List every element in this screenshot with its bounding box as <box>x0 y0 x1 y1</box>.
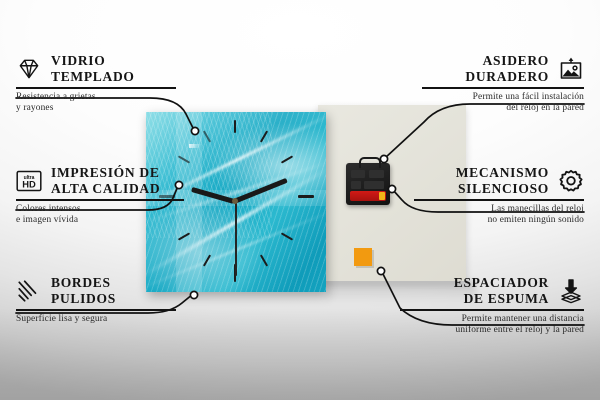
hour-tick-3 <box>298 195 314 198</box>
callout-title-line2: DURADERO <box>465 69 549 85</box>
gear-icon <box>558 168 584 194</box>
callout-header: ultra HD IMPRESIÓN DE ALTA CALIDAD <box>16 165 184 196</box>
callout-desc-line1: Las manecillas del reloj <box>414 204 584 215</box>
callout-desc-line1: Permite una fácil instalación <box>422 92 584 103</box>
callout-title-line1: IMPRESIÓN DE <box>51 165 160 181</box>
callout-desc-line1: Superficie lisa y segura <box>16 314 176 325</box>
infographic-canvas: VIDRIO TEMPLADO Resistencia a grietas y … <box>0 0 600 400</box>
callout-title-line2: DE ESPUMA <box>454 291 549 307</box>
callout-desc-line1: Colores intensos <box>16 204 184 215</box>
callout-title-line2: ALTA CALIDAD <box>51 181 160 197</box>
diamond-icon <box>16 56 42 82</box>
callout-desc-line2: del reloj en la pared <box>422 103 584 114</box>
callout-title-line1: BORDES <box>51 275 116 291</box>
polished-edges-icon <box>16 278 42 304</box>
svg-text:HD: HD <box>22 178 36 189</box>
callout-title-line1: ASIDERO <box>465 53 549 69</box>
clock-center-pin <box>232 198 238 204</box>
clock-mechanism <box>346 163 390 205</box>
mechanism-detail <box>351 170 365 178</box>
callout-title-line2: PULIDOS <box>51 291 116 307</box>
callout-desc-line2: y rayones <box>16 103 176 114</box>
callout-divider <box>16 199 184 201</box>
callout-divider <box>400 309 584 311</box>
hanging-frame-icon <box>558 56 584 82</box>
callout-divider <box>422 87 584 89</box>
callout-header: ASIDERO DURADERO <box>422 53 584 84</box>
callout-desc-line1: Resistencia a grietas <box>16 92 176 103</box>
callout-desc-line2: uniforme entre el reloj y la pared <box>400 325 584 336</box>
callout-title-line2: TEMPLADO <box>51 69 135 85</box>
mechanism-hanger-hook <box>359 157 381 168</box>
callout-desc-line1: Permite mantener una distancia <box>400 314 584 325</box>
callout-espaciador-de-espuma[interactable]: ESPACIADOR DE ESPUMA Permite mantener un… <box>400 275 584 336</box>
callout-asidero-duradero[interactable]: ASIDERO DURADERO Permite una fácil insta… <box>422 53 584 114</box>
mechanism-detail <box>351 181 361 189</box>
foam-spacer-icon <box>558 278 584 304</box>
callout-divider <box>16 309 176 311</box>
mechanism-battery <box>350 191 386 201</box>
mechanism-detail <box>369 170 384 178</box>
callout-header: MECANISMO SILENCIOSO <box>414 165 584 196</box>
ultra-hd-icon: ultra HD <box>16 168 42 194</box>
callout-desc-line2: no emiten ningún sonido <box>414 215 584 226</box>
callout-mecanismo-silencioso[interactable]: MECANISMO SILENCIOSO Las manecillas del … <box>414 165 584 226</box>
hour-tick-12 <box>234 120 236 133</box>
callout-divider <box>16 87 176 89</box>
callout-header: BORDES PULIDOS <box>16 275 176 306</box>
callout-title-line1: MECANISMO <box>456 165 549 181</box>
mechanism-detail <box>364 181 384 189</box>
callout-impresion-alta-calidad[interactable]: ultra HD IMPRESIÓN DE ALTA CALIDAD Color… <box>16 165 184 226</box>
callout-header: VIDRIO TEMPLADO <box>16 53 176 84</box>
callout-title-line1: VIDRIO <box>51 53 135 69</box>
second-hand <box>235 200 237 276</box>
callout-title-line2: SILENCIOSO <box>456 181 549 197</box>
callout-divider <box>414 199 584 201</box>
callout-header: ESPACIADOR DE ESPUMA <box>400 275 584 306</box>
foam-spacer-piece <box>354 248 372 266</box>
callout-title-line1: ESPACIADOR <box>454 275 549 291</box>
callout-desc-line2: e imagen vívida <box>16 215 184 226</box>
callout-vidrio-templado[interactable]: VIDRIO TEMPLADO Resistencia a grietas y … <box>16 53 176 114</box>
callout-bordes-pulidos[interactable]: BORDES PULIDOS Superficie lisa y segura <box>16 275 176 325</box>
